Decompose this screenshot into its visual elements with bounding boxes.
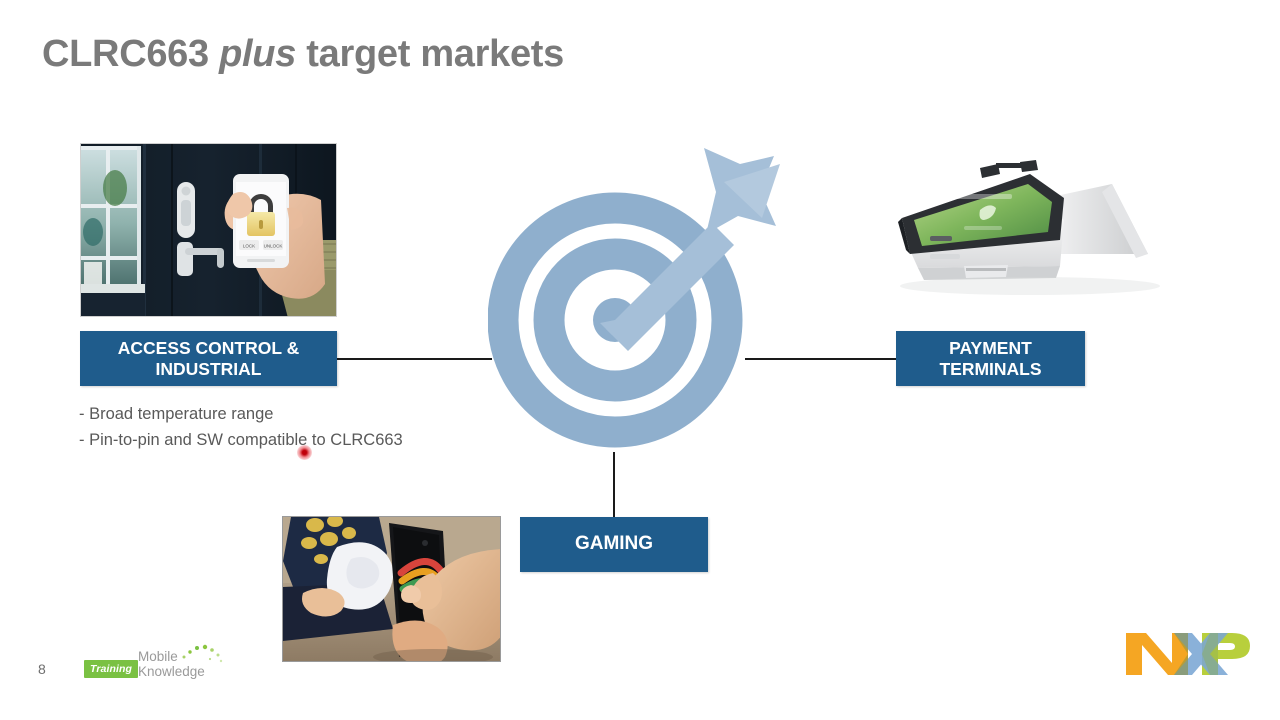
target-icon <box>488 130 818 460</box>
gaming-box-label: GAMING <box>575 533 653 555</box>
connector-line-access <box>337 358 492 360</box>
nxp-logo <box>1124 629 1252 679</box>
title-suffix: target markets <box>296 33 564 75</box>
svg-text:LOCK: LOCK <box>243 244 255 249</box>
connector-line-gaming <box>613 452 615 518</box>
target-with-arrow-graphic <box>488 130 818 460</box>
laser-pointer-cursor <box>297 445 312 460</box>
svg-text:UNLOCK: UNLOCK <box>264 244 283 249</box>
gaming-illustration <box>283 517 501 662</box>
feature-bullet-list: - Broad temperature range - Pin-to-pin a… <box>79 402 509 453</box>
connector-line-payment <box>745 358 897 360</box>
payment-terminal-photo <box>880 158 1190 318</box>
mobile-knowledge-text: Mobile Knowledge <box>138 650 205 679</box>
bullet-item: - Broad temperature range <box>79 402 509 428</box>
mk-line1: Mobile <box>138 650 205 665</box>
page-number: 8 <box>38 661 46 677</box>
gaming-photo <box>282 516 501 662</box>
mobile-knowledge-logo: Training Mobile Knowledge <box>84 648 210 682</box>
training-badge: Training <box>84 660 138 678</box>
category-box-payment-terminals[interactable]: PAYMENT TERMINALS <box>896 331 1085 386</box>
payment-box-line2: TERMINALS <box>939 359 1041 379</box>
access-box-line1: ACCESS CONTROL & <box>118 338 300 358</box>
payment-terminal-illustration <box>880 158 1190 318</box>
mk-line2: Knowledge <box>138 665 205 680</box>
page-title: CLRC663 plus target markets <box>42 33 564 76</box>
access-control-illustration: LOCK UNLOCK <box>81 144 337 317</box>
title-prefix: CLRC663 <box>42 33 219 75</box>
bullet-item: - Pin-to-pin and SW compatible to CLRC66… <box>79 428 509 454</box>
slide-canvas: CLRC663 plus target markets <box>0 0 1280 720</box>
title-italic-word: plus <box>219 33 296 75</box>
access-box-line2: INDUSTRIAL <box>156 359 262 379</box>
access-control-photo: LOCK UNLOCK <box>80 143 337 317</box>
category-box-gaming[interactable]: GAMING <box>520 517 708 572</box>
category-box-access-control[interactable]: ACCESS CONTROL & INDUSTRIAL <box>80 331 337 386</box>
payment-box-line1: PAYMENT <box>949 338 1032 358</box>
